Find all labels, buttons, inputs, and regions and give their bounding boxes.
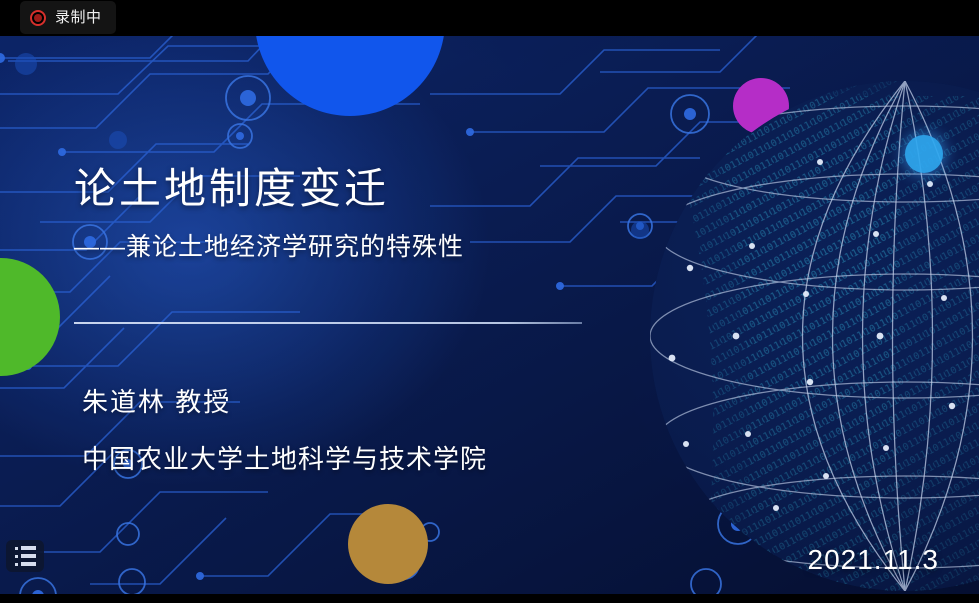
record-dot-icon — [30, 10, 46, 26]
slide-date: 2021.11.3 — [808, 544, 940, 576]
slide-title-block: 论土地制度变迁 ——兼论土地经济学研究的特殊性 — [74, 166, 714, 262]
presenter-block: 朱道林 教授 中国农业大学土地科学与技术学院 — [82, 386, 702, 475]
screen-root: 10110 — [0, 0, 979, 603]
presenter-affiliation: 中国农业大学土地科学与技术学院 — [82, 443, 702, 476]
bottom-black-bar — [0, 594, 979, 603]
slide-subtitle: ——兼论土地经济学研究的特殊性 — [74, 232, 714, 262]
slide-title: 论土地制度变迁 — [74, 166, 714, 212]
cyan-circle-decoration — [905, 135, 943, 173]
recording-top-bar: 录制中 — [0, 0, 979, 36]
recording-status-badge[interactable]: 录制中 — [20, 1, 116, 34]
binary-globe-decoration: 10110 — [0, 36, 979, 594]
presenter-name: 朱道林 教授 — [82, 386, 702, 419]
list-menu-button[interactable] — [6, 540, 44, 572]
title-divider — [74, 322, 582, 324]
recording-label: 录制中 — [55, 10, 102, 25]
list-icon — [15, 546, 36, 566]
presentation-slide: 10110 — [0, 36, 979, 594]
